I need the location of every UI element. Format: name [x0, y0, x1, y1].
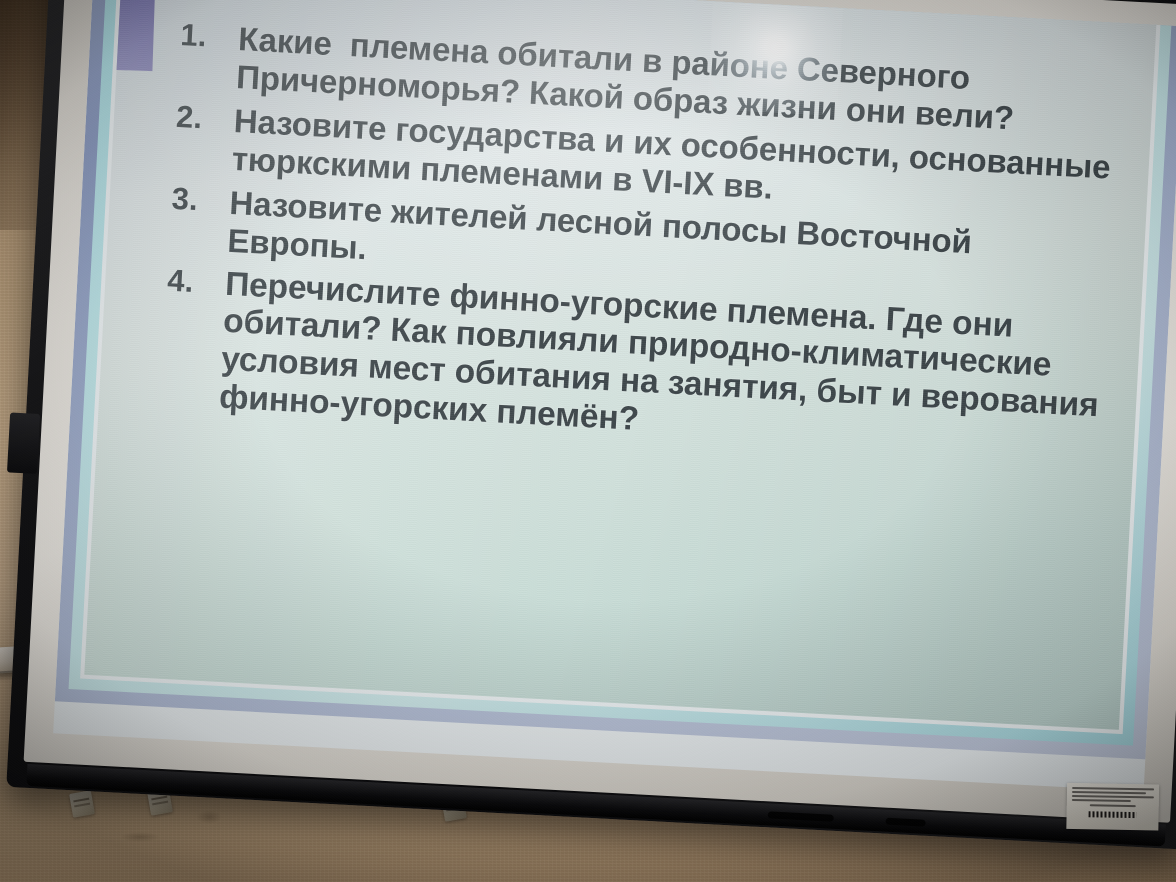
classroom-photo-scene: 1. Какие племена обитали в районе Северн… — [0, 0, 1176, 882]
photo-vignette — [0, 0, 1176, 882]
